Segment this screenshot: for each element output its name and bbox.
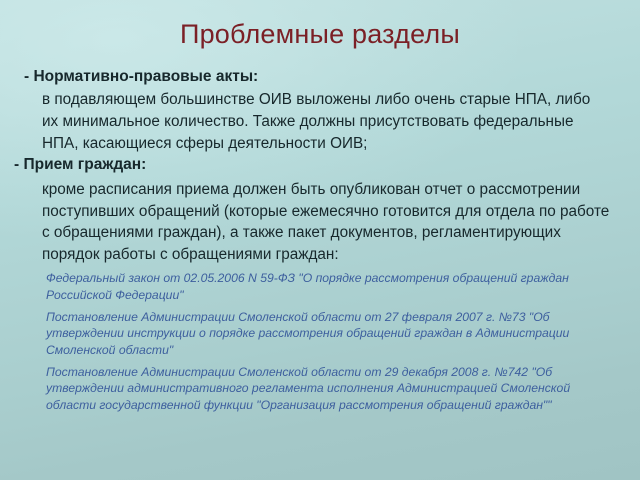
slide-content: Проблемные разделы - Нормативно-правовые… (0, 0, 640, 480)
bullet-paragraph-citizen-reception: кроме расписания приема должен быть опуб… (14, 179, 626, 266)
bullet-heading-normative-acts: - Нормативно-правовые акты: (24, 66, 626, 88)
bullet-paragraph-normative-acts: в подавляющем большинстве ОИВ выложены л… (14, 89, 626, 154)
reference-item: Постановление Администрации Смоленской о… (46, 364, 594, 413)
bullet-heading-citizen-reception: - Прием граждан: (14, 154, 626, 176)
reference-item: Постановление Администрации Смоленской о… (46, 309, 594, 358)
slide-body: - Нормативно-правовые акты: в подавляюще… (14, 66, 626, 413)
presentation-slide: Проблемные разделы - Нормативно-правовые… (0, 0, 640, 480)
reference-list: Федеральный закон от 02.05.2006 N 59-ФЗ … (14, 270, 626, 413)
slide-title: Проблемные разделы (0, 20, 640, 50)
reference-item: Федеральный закон от 02.05.2006 N 59-ФЗ … (46, 270, 594, 303)
